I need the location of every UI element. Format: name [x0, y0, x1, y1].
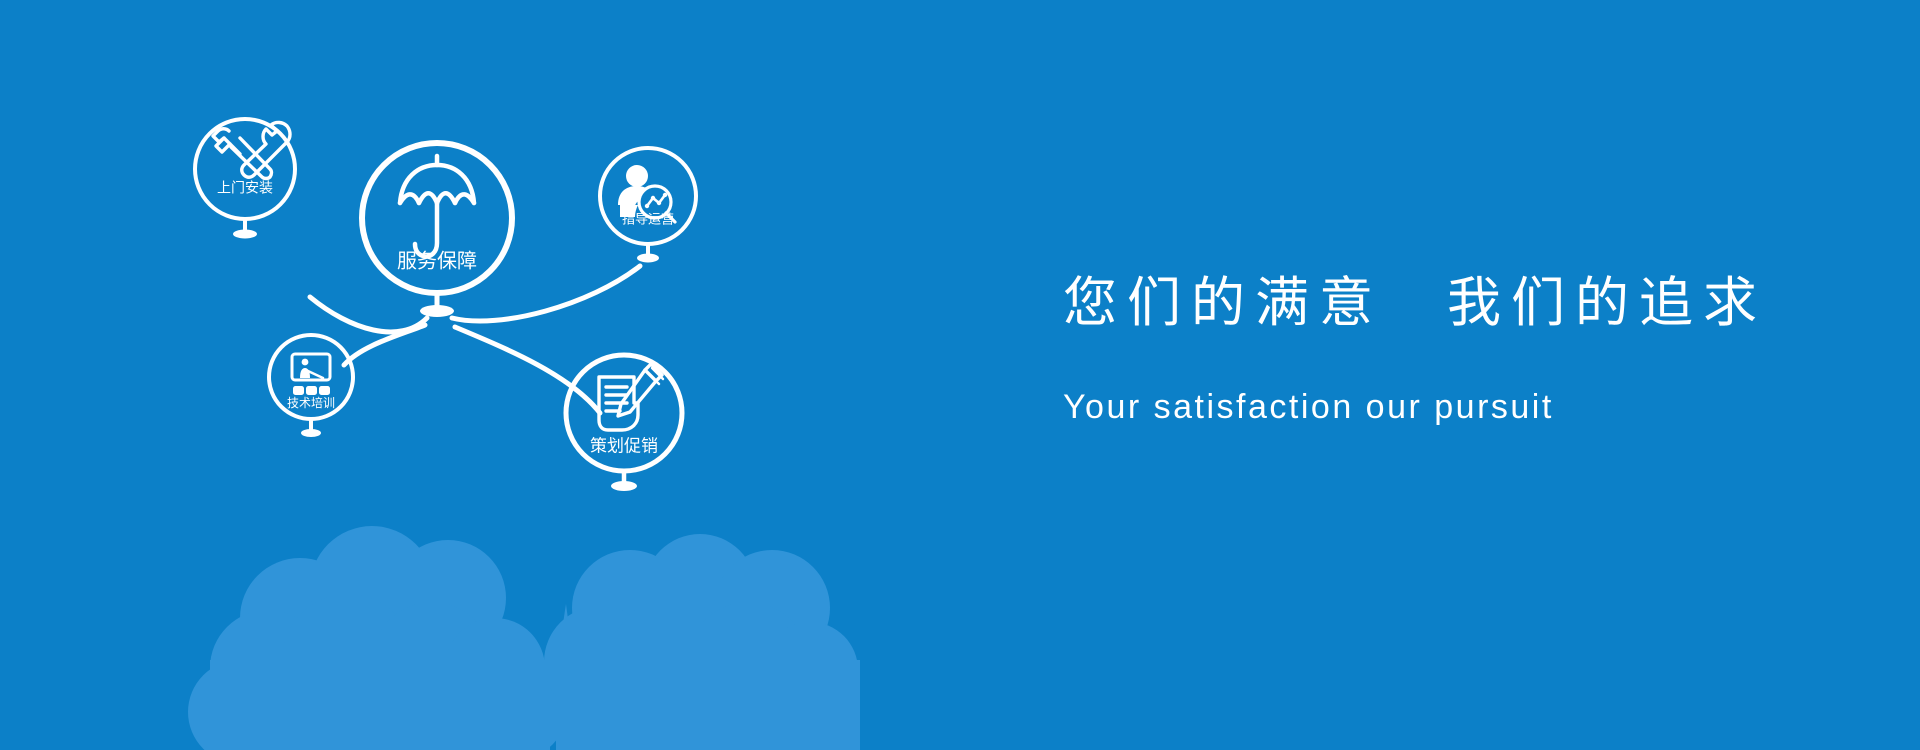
promo-banner: 服务保障 上门安装	[0, 0, 1920, 750]
umbrella-icon	[400, 156, 474, 256]
slogan-block: 您们的满意 我们的追求 Your satisfaction our pursui…	[1063, 270, 1823, 429]
connector-lines	[310, 266, 640, 413]
node-guidance-operations[interactable]: 指导运营	[600, 148, 696, 263]
hammer-wrench-icon	[213, 122, 290, 178]
bush-left	[188, 526, 566, 750]
connector-to-install	[310, 297, 427, 332]
node-label-center: 服务保障	[397, 249, 477, 272]
bush-right	[544, 534, 860, 750]
node-label-training: 技术培训	[287, 395, 335, 410]
node-planning-promotion[interactable]: 策划促销	[566, 355, 682, 491]
connector-to-promotion	[455, 327, 600, 413]
classroom-training-icon	[292, 354, 330, 395]
node-label-promotion: 策划促销	[590, 436, 658, 455]
node-ring-install	[195, 119, 295, 219]
subline-english: Your satisfaction our pursuit	[1063, 338, 1823, 429]
headline-chinese: 您们的满意 我们的追求	[1063, 270, 1823, 338]
foliage-bushes	[188, 526, 860, 750]
node-stand-promotion	[611, 471, 637, 491]
node-label-operations: 指导运营	[622, 211, 674, 226]
node-stand-training	[301, 419, 321, 437]
node-stand-center	[420, 293, 454, 317]
connector-to-operations	[452, 266, 640, 321]
node-stand-operations	[637, 244, 659, 263]
node-service-guarantee[interactable]: 服务保障	[362, 143, 512, 317]
node-label-install: 上门安装	[217, 180, 273, 196]
node-onsite-install[interactable]: 上门安装	[195, 119, 295, 239]
node-stand-install	[233, 219, 257, 239]
document-pencil-icon	[599, 364, 663, 430]
node-technical-training[interactable]: 技术培训	[269, 335, 353, 437]
